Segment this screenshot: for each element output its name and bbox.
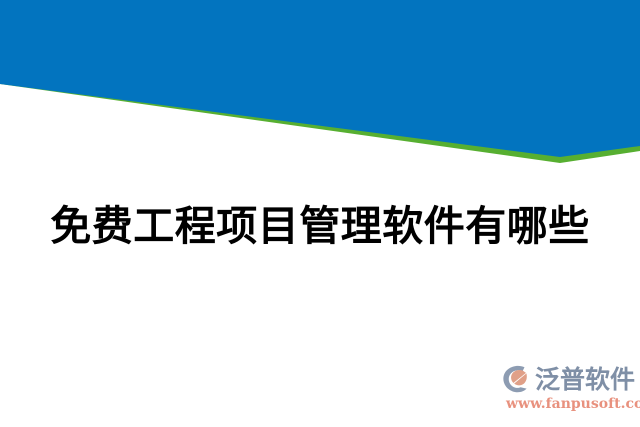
page-title: 免费工程项目管理软件有哪些 <box>50 204 590 250</box>
banner-green-stripe <box>0 70 640 163</box>
fanpu-logo-icon <box>500 363 532 395</box>
brand-row: 泛普软件 <box>500 361 635 397</box>
brand-website-url: www.fanpusoft.com <box>506 396 640 412</box>
slide-canvas: 免费工程项目管理软件有哪些 泛普软件 www.fanpusoft.com <box>0 0 640 427</box>
brand-logo: 泛普软件 www.fanpusoft.com <box>500 361 636 417</box>
banner-blue-wedge <box>0 0 640 157</box>
brand-name: 泛普软件 <box>535 367 635 392</box>
header-banner-decoration <box>0 0 640 175</box>
title-block: 免费工程项目管理软件有哪些 <box>0 196 640 258</box>
